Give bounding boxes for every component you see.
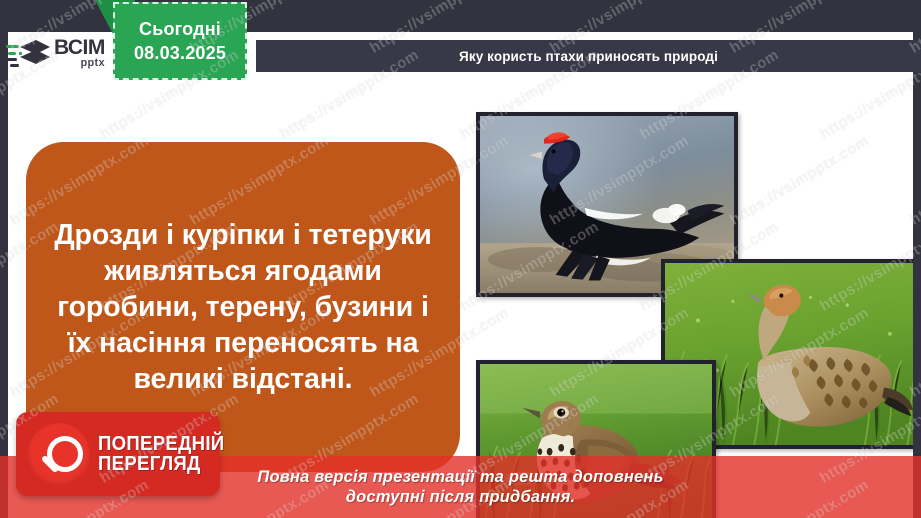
magnifier-icon <box>28 423 90 485</box>
date-badge-label: Сьогодні <box>139 19 221 40</box>
brand-wordmark: ВСІМ pptx <box>54 38 105 67</box>
brand-name: ВСІМ <box>54 38 105 57</box>
date-badge: Сьогодні 08.03.2025 <box>113 2 247 80</box>
purchase-notice-line1: Повна версія презентації та решта доповн… <box>257 468 663 487</box>
graduation-cap-icon <box>6 35 50 71</box>
content-text: Дрозди і куріпки і тетеруки живляться яг… <box>48 217 438 397</box>
date-badge-value: 08.03.2025 <box>134 43 226 64</box>
purchase-notice-line2: доступні після придбання. <box>346 488 576 507</box>
page-title: Яку користь птахи приносять природі <box>459 49 718 64</box>
preview-badge[interactable]: ПОПЕРЕДНІЙ ПЕРЕГЛЯД <box>16 412 220 496</box>
preview-badge-line1: ПОПЕРЕДНІЙ <box>98 434 224 454</box>
preview-badge-line2: ПЕРЕГЛЯД <box>98 454 224 474</box>
slide-title-bar: Яку користь птахи приносять природі <box>256 40 921 72</box>
brand-logo[interactable]: ВСІМ pptx <box>6 30 102 76</box>
brand-subtitle: pptx <box>54 58 105 68</box>
presentation-window: Дрозди і куріпки і тетеруки живляться яг… <box>0 0 921 518</box>
preview-badge-text: ПОПЕРЕДНІЙ ПЕРЕГЛЯД <box>98 434 234 475</box>
